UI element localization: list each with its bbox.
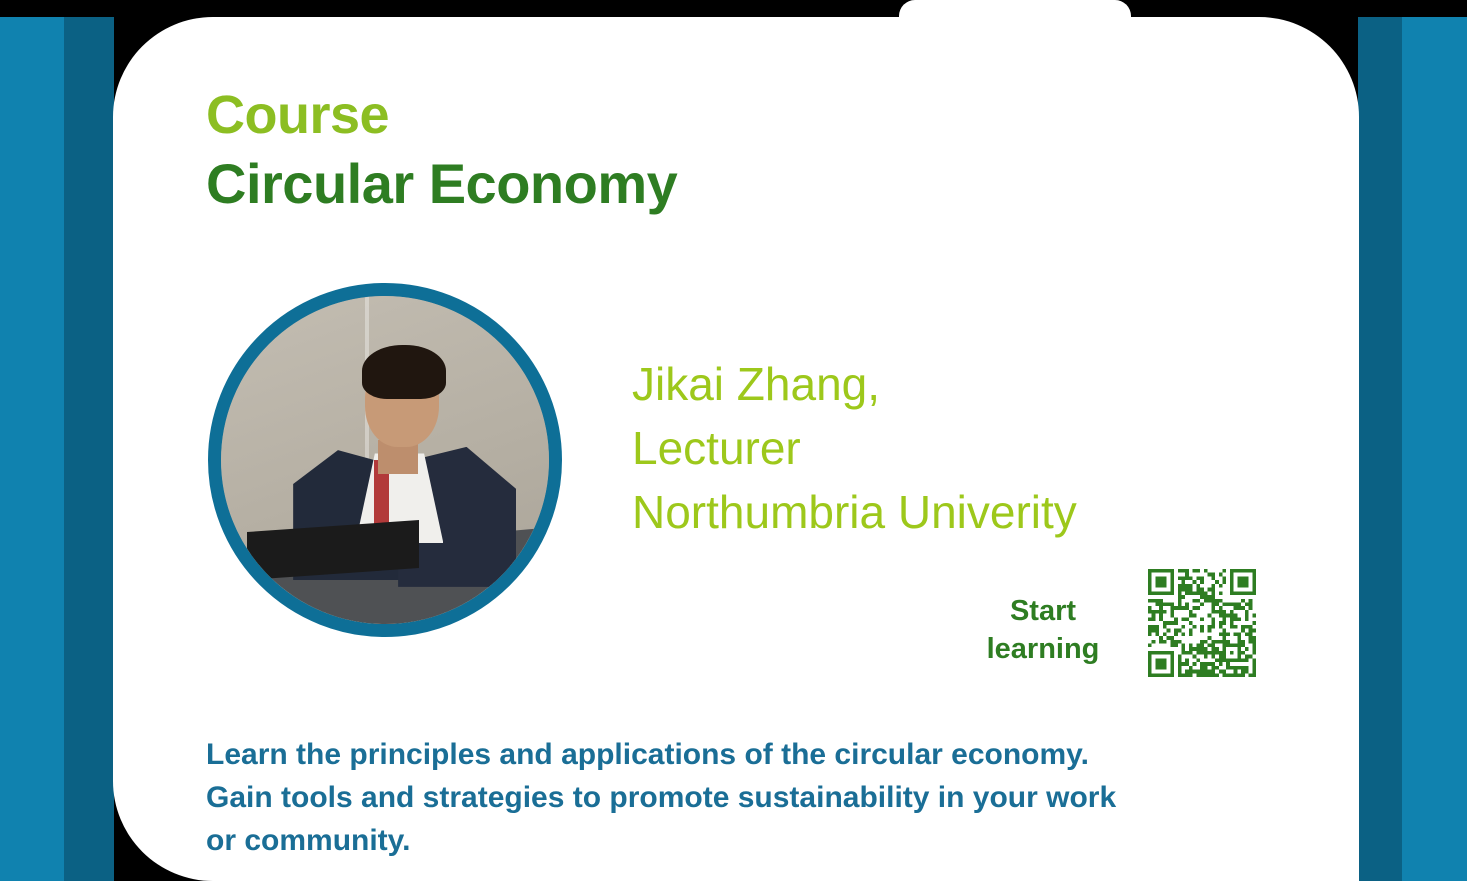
- speaker-avatar: [208, 283, 562, 637]
- qr-code-svg: [1148, 568, 1256, 678]
- photo-hair: [362, 345, 446, 399]
- description-line-2: Gain tools and strategies to promote sus…: [206, 776, 1264, 819]
- heading-course-label: Course: [206, 88, 677, 142]
- course-description: Learn the principles and applications of…: [206, 733, 1264, 862]
- heading-course-name: Circular Economy: [206, 156, 677, 212]
- speaker-role: Lecturer: [632, 416, 1077, 480]
- speaker-name: Jikai Zhang,: [632, 352, 1077, 416]
- qr-code-icon[interactable]: [1148, 568, 1256, 678]
- speaker-photo: [221, 296, 549, 624]
- background-band-right-outer: [1402, 17, 1467, 881]
- course-promo-card: Course Circular Economy Jikai Zhang, Lec…: [0, 0, 1467, 881]
- start-learning-label: Start learning: [968, 592, 1118, 668]
- speaker-details: Jikai Zhang, Lecturer Northumbria Univer…: [632, 352, 1077, 544]
- background-band-left-inner: [64, 17, 114, 881]
- cta-line-2: learning: [968, 630, 1118, 668]
- description-line-3: or community.: [206, 819, 1264, 862]
- cta-line-1: Start: [968, 592, 1118, 630]
- background-band-left-outer: [0, 17, 64, 881]
- speaker-affiliation: Northumbria Univerity: [632, 480, 1077, 544]
- page-title: Course Circular Economy: [206, 88, 677, 212]
- card-top-notch: [899, 0, 1131, 34]
- description-line-1: Learn the principles and applications of…: [206, 733, 1264, 776]
- background-band-right-inner: [1358, 17, 1402, 881]
